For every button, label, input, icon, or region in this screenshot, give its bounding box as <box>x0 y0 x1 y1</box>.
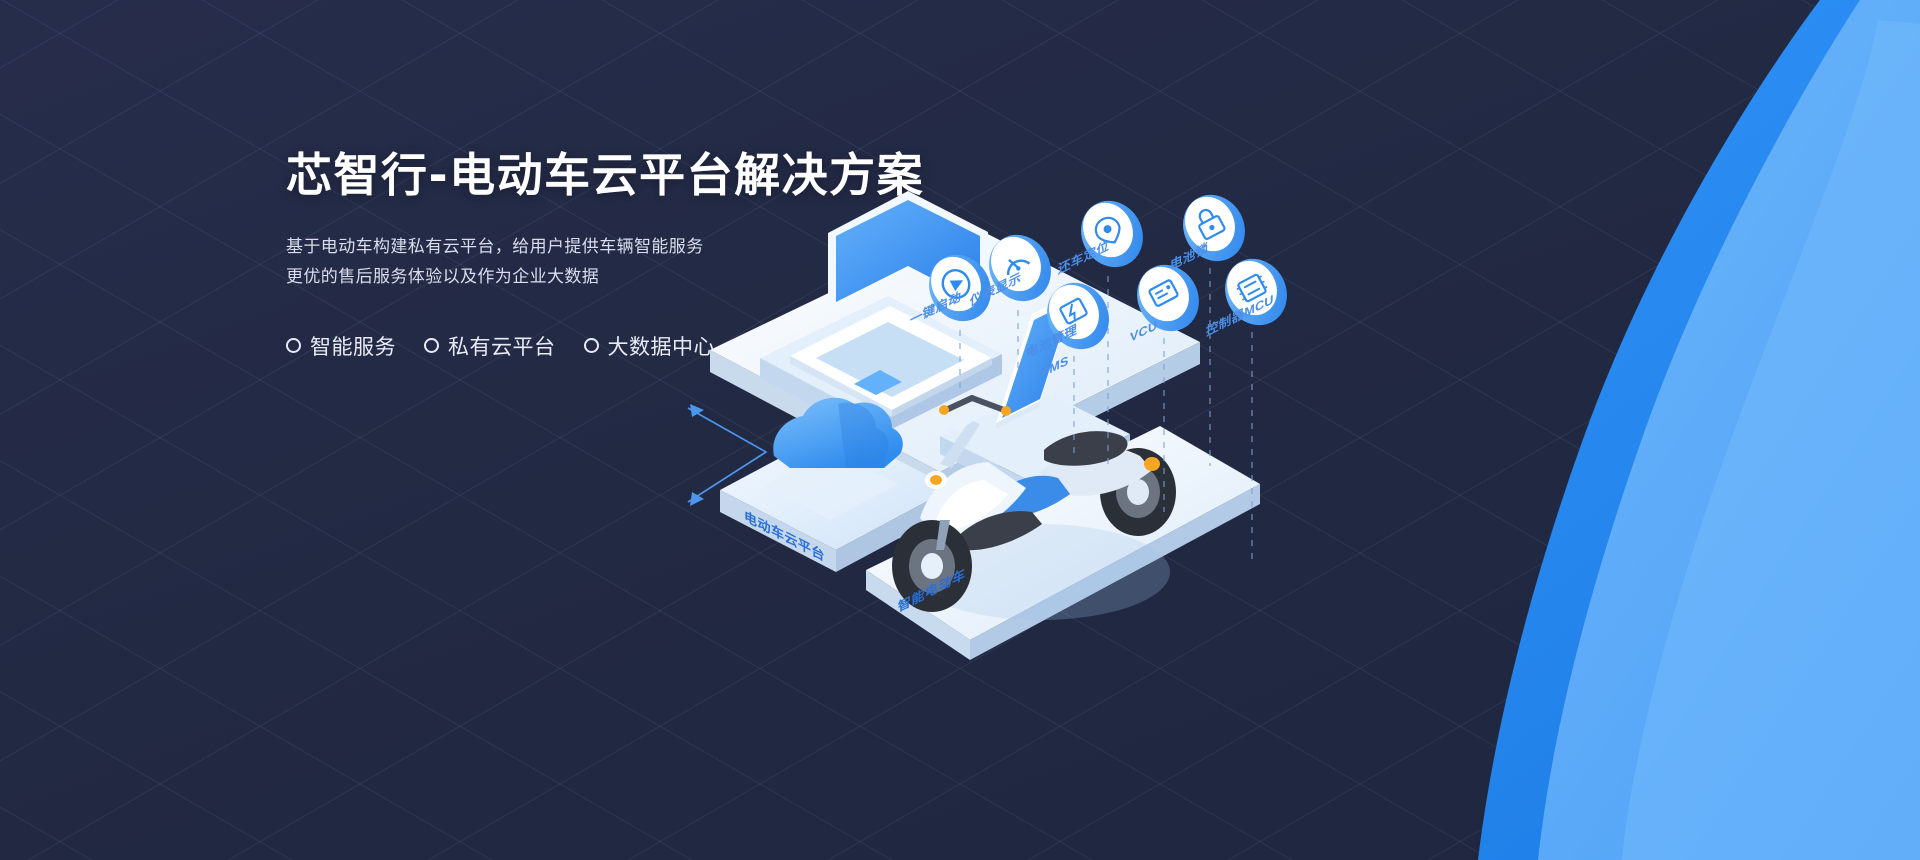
circle-outline-icon <box>584 338 599 353</box>
circle-outline-icon <box>286 338 301 353</box>
feature-node-mcu[interactable]: 控制器MCU <box>1206 248 1298 339</box>
hero-feature-item-2: 私有云平台 <box>424 331 556 361</box>
circle-outline-icon <box>424 338 439 353</box>
hero-feature-label: 智能服务 <box>310 331 396 361</box>
feature-node-battery-lock[interactable]: 电池锁 <box>1170 184 1256 273</box>
hero-feature-label: 私有云平台 <box>448 331 556 361</box>
feature-node-location[interactable]: 还车定位 <box>1057 190 1154 278</box>
hero-feature-item-1: 智能服务 <box>286 331 396 361</box>
banner-stage: 芯智行-电动车云平台解决方案 基于电动车构建私有云平台，给用户提供车辆智能服务 … <box>0 0 1920 860</box>
isometric-illustration: 终端设备 电动车云 <box>640 120 1920 860</box>
